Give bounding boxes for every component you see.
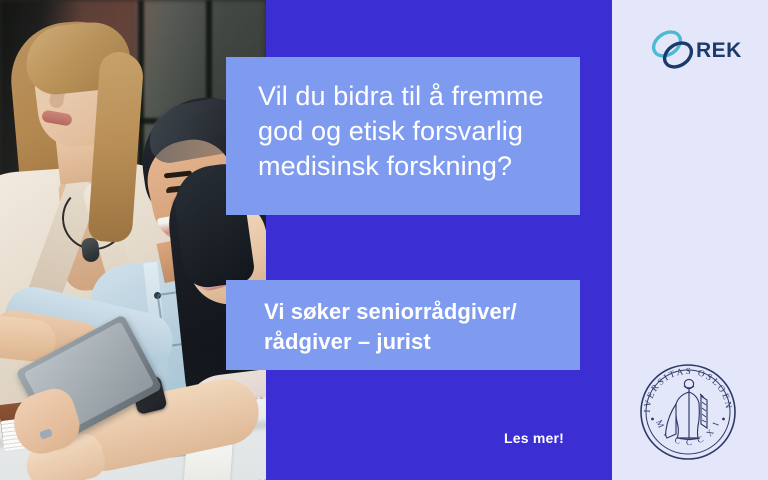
uio-seal-logo[interactable]: UNIVERSITAS OSLOENSIS M D C C C X I — [638, 362, 738, 462]
read-more-cta[interactable]: Les mer! — [504, 430, 564, 446]
rek-logo-svg: REK — [650, 28, 746, 72]
rek-logo[interactable]: REK — [650, 28, 746, 72]
recruitment-banner: Vil du bidra til å fremme god og etisk f… — [0, 0, 768, 480]
job-title-box: Vi søker seniorrådgiver/ rådgiver – juri… — [226, 280, 580, 370]
job-title-line-1: Vi søker seniorrådgiver/ — [264, 297, 558, 327]
uio-seal-svg: UNIVERSITAS OSLOENSIS M D C C C X I — [638, 362, 738, 462]
job-title-line-2: rådgiver – jurist — [264, 327, 558, 357]
two-interlocking-ellipses-icon — [650, 28, 696, 72]
rek-wordmark: REK — [696, 39, 742, 62]
headline-box: Vil du bidra til å fremme god og etisk f… — [226, 57, 580, 215]
seal-dot — [651, 418, 654, 421]
seal-dot — [722, 418, 725, 421]
person-one-pendant — [81, 237, 100, 263]
headline-line-2: god og etisk forsvarlig — [258, 114, 552, 149]
headline-line-3: medisinsk forskning? — [258, 149, 552, 184]
headline-line-1: Vil du bidra til å fremme — [258, 79, 552, 114]
apollo-with-lyre-icon — [666, 379, 707, 439]
